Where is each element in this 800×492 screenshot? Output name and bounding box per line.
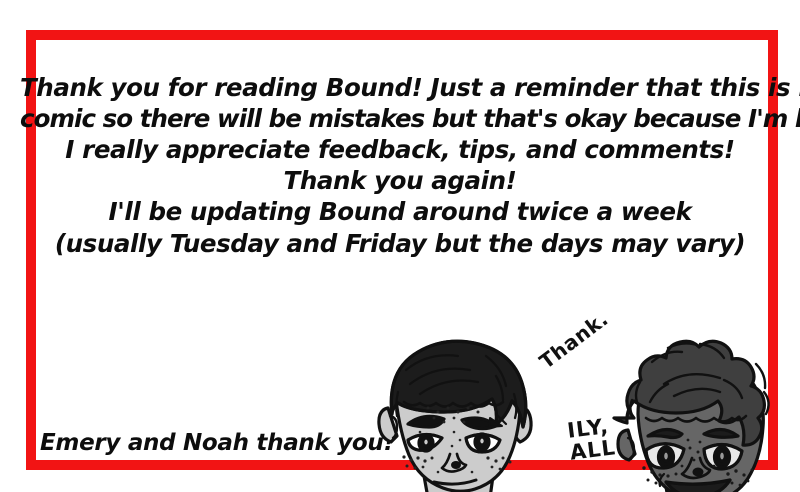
author-note: Thank you for reading Bound! Just a remi…: [20, 72, 780, 259]
author-note-line-4: Thank you again!: [20, 165, 780, 196]
schedule-line-2: (usually Tuesday and Friday but the days…: [20, 228, 780, 259]
author-note-paragraph-2: I'll be updating Bound around twice a we…: [20, 196, 780, 258]
author-note-line-1: Thank you for reading Bound! Just a remi…: [20, 72, 780, 103]
author-note-line-2: comic so there will be mistakes but that…: [20, 103, 780, 134]
comic-panel: Thank you for reading Bound! Just a remi…: [0, 0, 800, 492]
schedule-line-1: I'll be updating Bound around twice a we…: [20, 196, 780, 227]
emery-artwork: [368, 336, 548, 492]
author-note-paragraph-1: Thank you for reading Bound! Just a remi…: [20, 72, 780, 196]
author-note-line-3: I really appreciate feedback, tips, and …: [20, 134, 780, 165]
character-portrait-noah: Noah — character portrait, dark skin, cu…: [604, 318, 800, 492]
character-portrait-emery: Emery — character portrait, light skin, …: [368, 336, 548, 492]
signature-text: Emery and Noah thank you!: [40, 430, 394, 456]
noah-artwork: [604, 318, 800, 492]
